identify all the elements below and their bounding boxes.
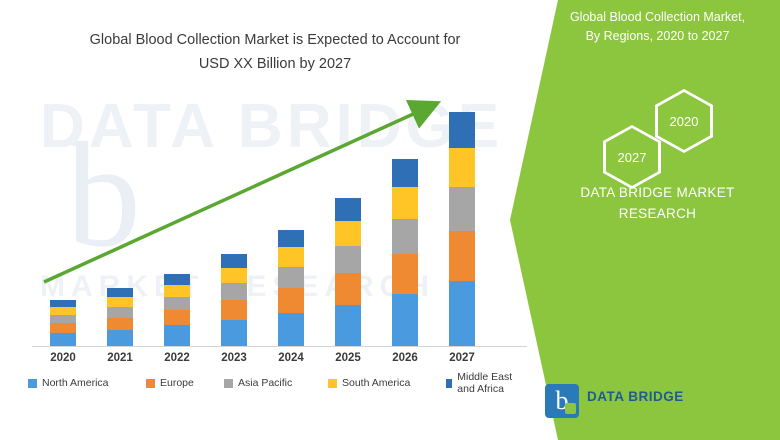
chart-title-line2: USD XX Billion by 2027 xyxy=(40,52,510,76)
legend-label: Europe xyxy=(160,377,194,389)
x-tick-2023: 2023 xyxy=(209,352,259,364)
legend-label: South America xyxy=(342,377,410,389)
legend-swatch xyxy=(28,379,37,388)
legend-label: Asia Pacific xyxy=(238,377,292,389)
brand-logo: b DATA BRIDGE MARKET RESEARCH xyxy=(545,378,725,424)
x-axis-tick-labels: 20202021202220232024202520262027 xyxy=(32,352,527,372)
legend-swatch xyxy=(328,379,337,388)
brand-logo-name: DATA BRIDGE xyxy=(587,389,687,404)
x-tick-2022: 2022 xyxy=(152,352,202,364)
legend-label: Middle East and Africa xyxy=(457,371,530,395)
panel-title-line1: Global Blood Collection Market, xyxy=(545,8,770,27)
x-axis-line xyxy=(32,346,527,347)
panel-brand: DATA BRIDGE MARKET RESEARCH xyxy=(545,182,770,224)
legend-swatch xyxy=(446,379,452,388)
chart-title: Global Blood Collection Market is Expect… xyxy=(40,28,510,76)
legend-item-middle-east-and-africa[interactable]: Middle East and Africa xyxy=(446,375,530,391)
legend-swatch xyxy=(146,379,155,388)
panel-title: Global Blood Collection Market, By Regio… xyxy=(545,8,770,46)
legend-item-europe[interactable]: Europe xyxy=(146,375,194,391)
chart-title-line1: Global Blood Collection Market is Expect… xyxy=(40,28,510,52)
legend-label: North America xyxy=(42,377,109,389)
x-tick-2021: 2021 xyxy=(95,352,145,364)
panel-brand-line1: DATA BRIDGE MARKET xyxy=(545,182,770,203)
x-tick-2027: 2027 xyxy=(437,352,487,364)
legend-swatch xyxy=(224,379,233,388)
x-tick-2026: 2026 xyxy=(380,352,430,364)
x-tick-2025: 2025 xyxy=(323,352,373,364)
chart-legend: North AmericaEuropeAsia PacificSouth Ame… xyxy=(20,375,530,391)
brand-logo-tagline: MARKET RESEARCH xyxy=(587,404,687,413)
x-tick-2020: 2020 xyxy=(38,352,88,364)
infographic-root: b DATA BRIDGE MARKET RESEARCH Global Blo… xyxy=(0,0,780,440)
legend-item-asia-pacific[interactable]: Asia Pacific xyxy=(224,375,292,391)
hexagon-2020-label: 2020 xyxy=(658,92,710,150)
panel-title-line2: By Regions, 2020 to 2027 xyxy=(545,27,770,46)
legend-item-north-america[interactable]: North America xyxy=(28,375,109,391)
hexagon-2027-label: 2027 xyxy=(606,128,658,186)
panel-brand-line2: RESEARCH xyxy=(545,203,770,224)
brand-logo-icon: b xyxy=(545,384,579,418)
x-tick-2024: 2024 xyxy=(266,352,316,364)
legend-item-south-america[interactable]: South America xyxy=(328,375,410,391)
growth-arrow-icon xyxy=(32,96,522,346)
